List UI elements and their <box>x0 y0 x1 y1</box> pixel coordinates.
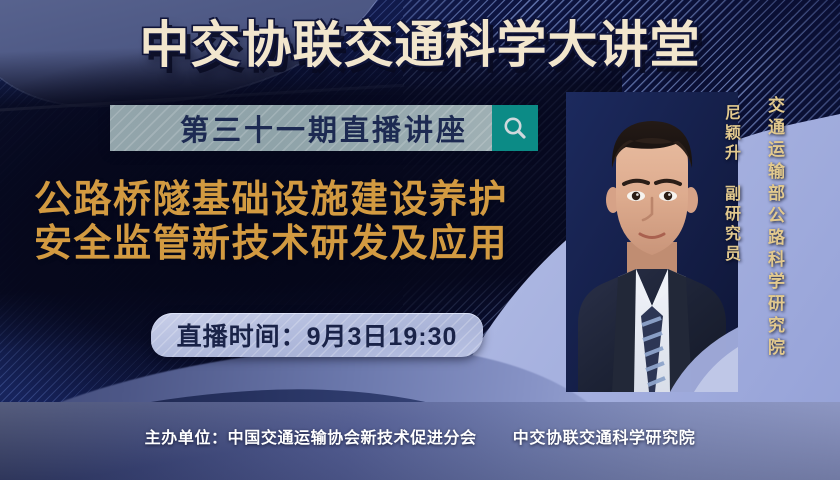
search-icon <box>502 115 528 141</box>
lecture-title: 公路桥隧基础设施建设养护 安全监管新技术研发及应用 <box>34 178 584 266</box>
speaker-portrait <box>566 92 738 392</box>
episode-search-bar[interactable]: 第三十一期直播讲座 <box>110 105 538 151</box>
lecture-title-line-1: 公路桥隧基础设施建设养护 <box>34 179 508 221</box>
episode-input-field[interactable]: 第三十一期直播讲座 <box>110 105 492 151</box>
lecture-title-line-2: 安全监管新技术研发及应用 <box>34 222 584 266</box>
footer-organizer: 主办单位：中国交通运输协会新技术促进分会 <box>145 430 477 447</box>
page-title: 中交协联交通科学大讲堂 <box>0 14 840 76</box>
episode-label: 第三十一期直播讲座 <box>134 107 468 149</box>
live-time-badge: 直播时间：9月3日19:30 <box>151 313 483 357</box>
footer-co-organizer: 中交协联交通科学研究院 <box>513 430 696 447</box>
footer-credits: 主办单位：中国交通运输协会新技术促进分会 中交协联交通科学研究院 <box>0 424 840 448</box>
speaker-name: 尼颖升 副研究员 <box>718 104 742 265</box>
speaker-organization: 交通运输部公路科学研究院 <box>762 96 787 360</box>
search-button[interactable] <box>492 105 538 151</box>
live-lecture-poster: 中交协联交通科学大讲堂 第三十一期直播讲座 公路桥隧基础设施建设养护 安全监管新… <box>0 0 840 480</box>
live-time-label: 直播时间：9月3日19:30 <box>177 317 458 353</box>
